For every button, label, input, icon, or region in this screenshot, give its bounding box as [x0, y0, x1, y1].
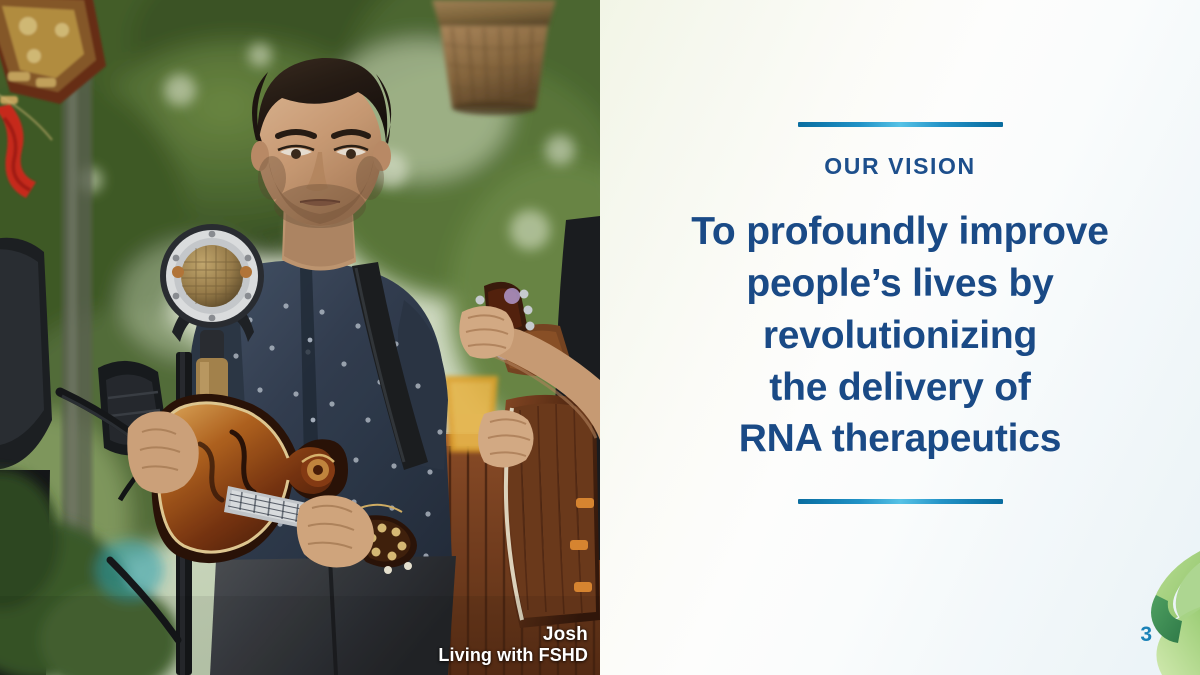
vision-block: OUR VISION To profoundly improve people’… [600, 0, 1200, 675]
caption-name: Josh [438, 624, 588, 645]
photo-caption: Josh Living with FSHD [438, 624, 588, 665]
vision-statement: To profoundly improve people’s lives by … [691, 206, 1109, 465]
caption-subtitle: Living with FSHD [438, 645, 588, 665]
vision-line-5: RNA therapeutics [691, 413, 1109, 465]
slide: Josh Living with FSHD OUR VISION To prof… [0, 0, 1200, 675]
vision-line-3: revolutionizing [691, 310, 1109, 362]
divider-top [798, 122, 1003, 127]
photo-panel: Josh Living with FSHD [0, 0, 600, 675]
section-eyebrow: OUR VISION [824, 153, 975, 180]
vision-line-4: the delivery of [691, 362, 1109, 414]
vision-line-2: people’s lives by [691, 258, 1109, 310]
page-number: 3 [1140, 623, 1152, 647]
divider-bottom [798, 499, 1003, 504]
content-panel: OUR VISION To profoundly improve people’… [600, 0, 1200, 675]
photograph [0, 0, 600, 675]
vision-line-1: To profoundly improve [691, 206, 1109, 258]
